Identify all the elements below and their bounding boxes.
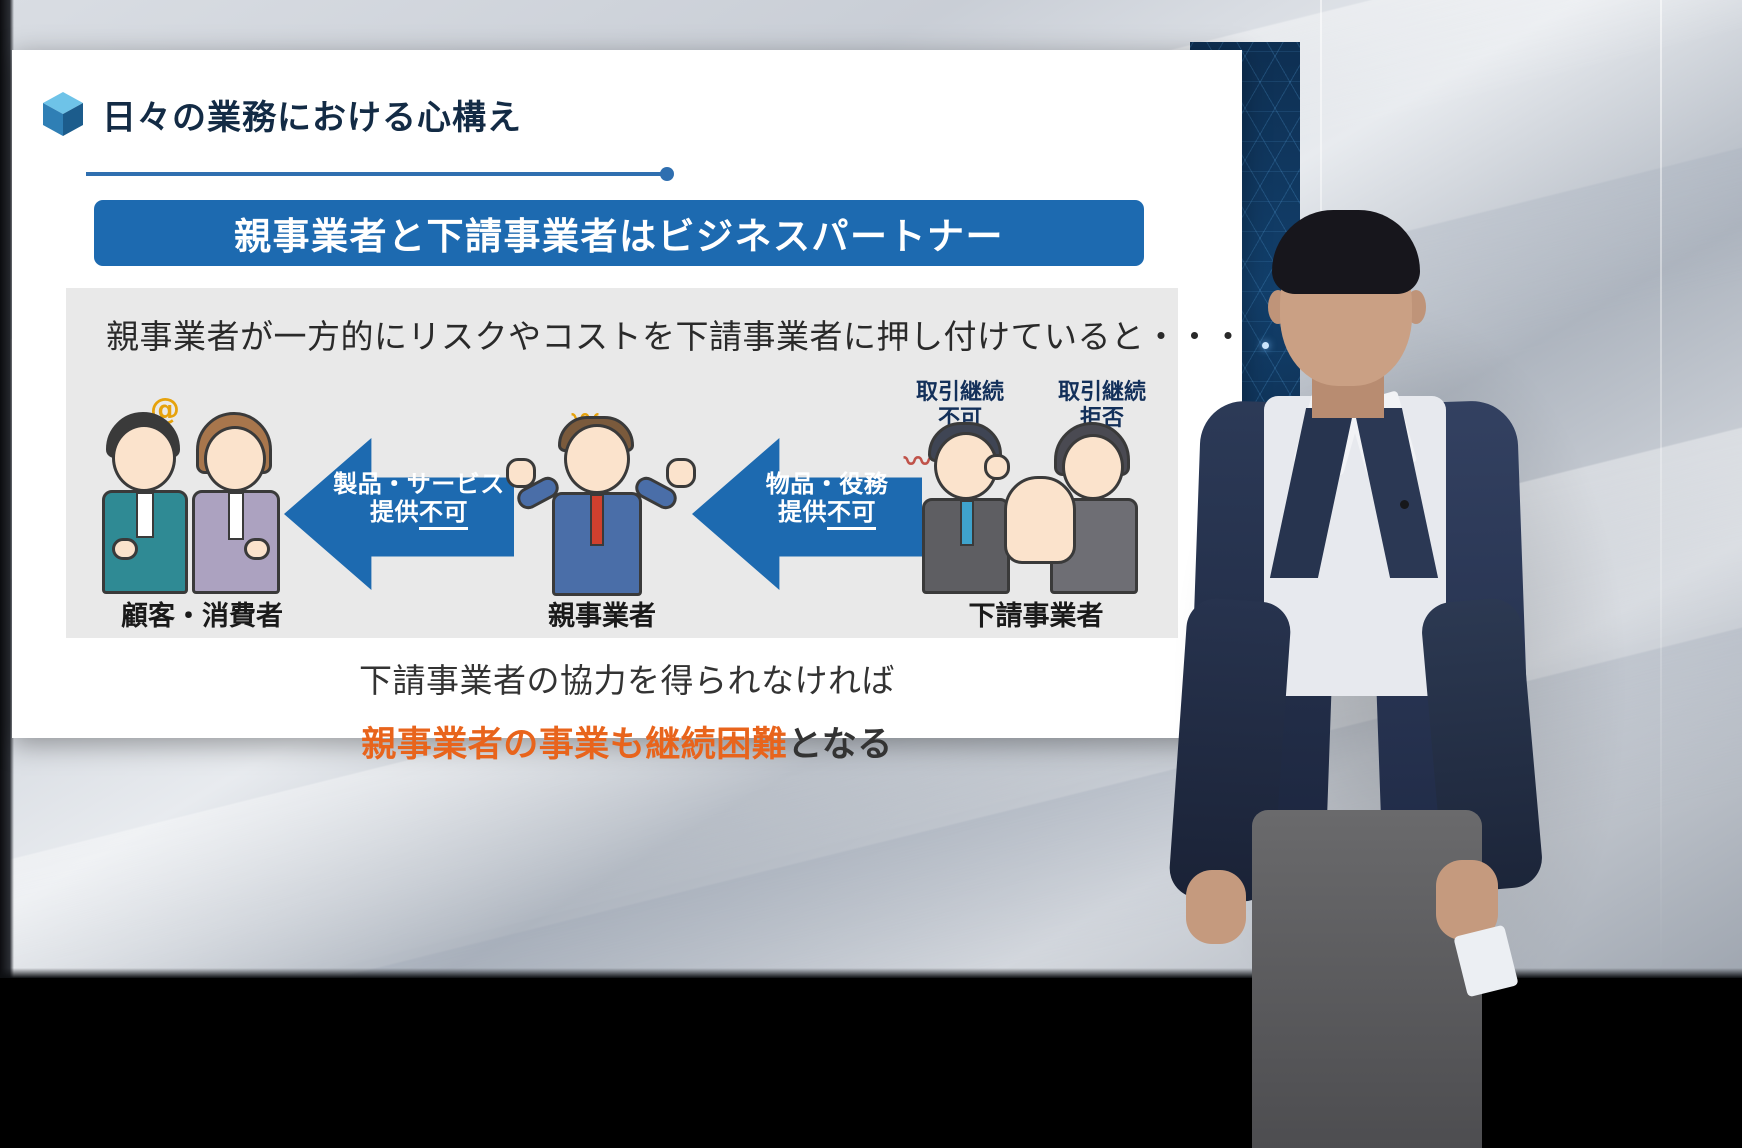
- figure-caption-parent-company: 親事業者: [512, 594, 692, 633]
- customer-man-hand: [112, 538, 138, 560]
- headline-banner-text: 親事業者と下請事業者はビジネスパートナー: [234, 206, 1004, 260]
- figure-caption-subcontractor: 下請事業者: [912, 594, 1160, 633]
- sub-woman-raised-palm: [1004, 476, 1076, 564]
- figure-group-customers: @ 顧客・消費者: [100, 398, 304, 638]
- figure-group-subcontractor: 〰 下請事業者: [912, 398, 1160, 638]
- figure-caption-customers: 顧客・消費者: [100, 594, 304, 633]
- diagram-lead-text: 親事業者が一方的にリスクやコストを下請事業者に押し付けていると・・・: [106, 310, 1245, 358]
- presenter-hair: [1272, 210, 1420, 294]
- customer-woman-head: [204, 426, 266, 492]
- customer-man-shirt: [136, 492, 154, 538]
- presenter-figure: [1160, 170, 1630, 978]
- header-underline-dot: [660, 167, 674, 181]
- conclusion-tail: となる: [787, 725, 892, 765]
- conclusion-block: 下請事業者の協力を得られなければ 親事業者の事業も継続困難となる: [12, 654, 1242, 767]
- presenter-hand-left: [1186, 870, 1246, 944]
- parent-necktie: [590, 494, 604, 546]
- headline-banner: 親事業者と下請事業者はビジネスパートナー: [94, 200, 1144, 266]
- customer-woman-hand: [244, 538, 270, 560]
- presentation-slide: 日々の業務における心構え 親事業者と下請事業者はビジネスパートナー 親事業者が一…: [12, 50, 1242, 738]
- parent-hand-left: [506, 458, 536, 488]
- parent-hand-right: [666, 458, 696, 488]
- customer-man-head: [112, 424, 176, 492]
- sub-man-necktie: [960, 500, 974, 546]
- figure-group-parent-company: 〰 親事業者: [512, 398, 692, 638]
- header-underline: [86, 172, 666, 176]
- stress-squiggle-icon: 〰: [904, 440, 932, 480]
- conclusion-highlight: 親事業者の事業も継続困難: [361, 725, 787, 765]
- presenter-lapel-mic: [1400, 500, 1409, 509]
- conclusion-line-1: 下請事業者の協力を得られなければ: [12, 654, 1242, 702]
- slide-header: 日々の業務における心構え: [42, 78, 692, 150]
- page-title: 日々の業務における心構え: [102, 90, 522, 139]
- sub-woman-head: [1062, 434, 1124, 500]
- customer-woman-shirt: [228, 492, 244, 540]
- sub-man-hand: [984, 454, 1010, 480]
- conclusion-line-2: 親事業者の事業も継続困難となる: [12, 716, 1242, 767]
- backdrop-edge: [1660, 0, 1662, 978]
- cube-icon: [42, 91, 84, 137]
- parent-head: [564, 424, 630, 494]
- presenter-trousers: [1252, 810, 1482, 1148]
